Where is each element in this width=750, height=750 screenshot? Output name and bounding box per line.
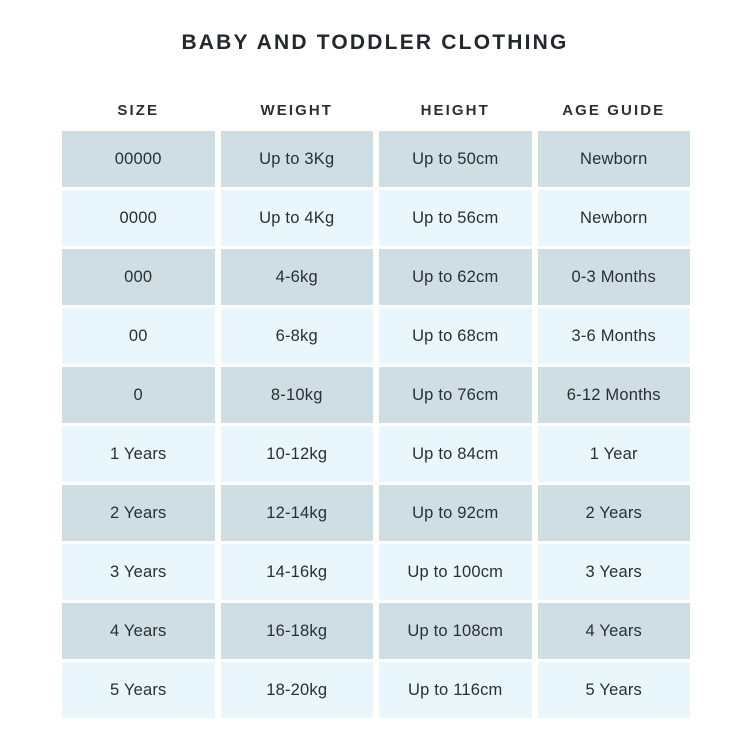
- cell-size: 0: [62, 367, 215, 423]
- cell-height: Up to 100cm: [379, 544, 532, 600]
- cell-height: Up to 116cm: [379, 662, 532, 718]
- table-row: 00 6-8kg Up to 68cm 3-6 Months: [62, 308, 690, 364]
- table-row: 0000 Up to 4Kg Up to 56cm Newborn: [62, 190, 690, 246]
- table-row: 1 Years 10-12kg Up to 84cm 1 Year: [62, 426, 690, 482]
- cell-age-guide: 2 Years: [538, 485, 691, 541]
- column-header-age-guide: AGE GUIDE: [538, 102, 691, 119]
- table-row: 5 Years 18-20kg Up to 116cm 5 Years: [62, 662, 690, 718]
- table-row: 3 Years 14-16kg Up to 100cm 3 Years: [62, 544, 690, 600]
- cell-weight: 8-10kg: [221, 367, 374, 423]
- cell-size: 00: [62, 308, 215, 364]
- cell-age-guide: 3 Years: [538, 544, 691, 600]
- cell-weight: 12-14kg: [221, 485, 374, 541]
- column-header-weight: WEIGHT: [221, 102, 374, 119]
- cell-size: 1 Years: [62, 426, 215, 482]
- cell-size: 2 Years: [62, 485, 215, 541]
- cell-weight: 16-18kg: [221, 603, 374, 659]
- cell-size: 0000: [62, 190, 215, 246]
- table-row: 4 Years 16-18kg Up to 108cm 4 Years: [62, 603, 690, 659]
- cell-height: Up to 84cm: [379, 426, 532, 482]
- cell-age-guide: 6-12 Months: [538, 367, 691, 423]
- cell-weight: Up to 3Kg: [221, 131, 374, 187]
- cell-weight: Up to 4Kg: [221, 190, 374, 246]
- cell-weight: 18-20kg: [221, 662, 374, 718]
- size-chart-table: SIZE WEIGHT HEIGHT AGE GUIDE 00000 Up to…: [62, 90, 690, 721]
- cell-weight: 14-16kg: [221, 544, 374, 600]
- cell-weight: 4-6kg: [221, 249, 374, 305]
- column-header-height: HEIGHT: [379, 102, 532, 119]
- cell-size: 4 Years: [62, 603, 215, 659]
- cell-age-guide: 3-6 Months: [538, 308, 691, 364]
- cell-age-guide: Newborn: [538, 131, 691, 187]
- cell-size: 000: [62, 249, 215, 305]
- cell-age-guide: 0-3 Months: [538, 249, 691, 305]
- table-row: 0 8-10kg Up to 76cm 6-12 Months: [62, 367, 690, 423]
- table-body: 00000 Up to 3Kg Up to 50cm Newborn 0000 …: [62, 131, 690, 718]
- cell-age-guide: 5 Years: [538, 662, 691, 718]
- cell-height: Up to 108cm: [379, 603, 532, 659]
- table-row: 00000 Up to 3Kg Up to 50cm Newborn: [62, 131, 690, 187]
- cell-age-guide: Newborn: [538, 190, 691, 246]
- cell-height: Up to 62cm: [379, 249, 532, 305]
- cell-height: Up to 92cm: [379, 485, 532, 541]
- table-row: 2 Years 12-14kg Up to 92cm 2 Years: [62, 485, 690, 541]
- cell-size: 3 Years: [62, 544, 215, 600]
- size-chart-page: BABY AND TODDLER CLOTHING SIZE WEIGHT HE…: [0, 0, 750, 750]
- table-header-row: SIZE WEIGHT HEIGHT AGE GUIDE: [62, 90, 690, 131]
- page-title: BABY AND TODDLER CLOTHING: [0, 31, 750, 55]
- cell-height: Up to 50cm: [379, 131, 532, 187]
- table-row: 000 4-6kg Up to 62cm 0-3 Months: [62, 249, 690, 305]
- cell-weight: 6-8kg: [221, 308, 374, 364]
- column-header-size: SIZE: [62, 102, 215, 119]
- cell-size: 00000: [62, 131, 215, 187]
- cell-size: 5 Years: [62, 662, 215, 718]
- cell-height: Up to 56cm: [379, 190, 532, 246]
- cell-height: Up to 76cm: [379, 367, 532, 423]
- cell-height: Up to 68cm: [379, 308, 532, 364]
- cell-weight: 10-12kg: [221, 426, 374, 482]
- cell-age-guide: 4 Years: [538, 603, 691, 659]
- cell-age-guide: 1 Year: [538, 426, 691, 482]
